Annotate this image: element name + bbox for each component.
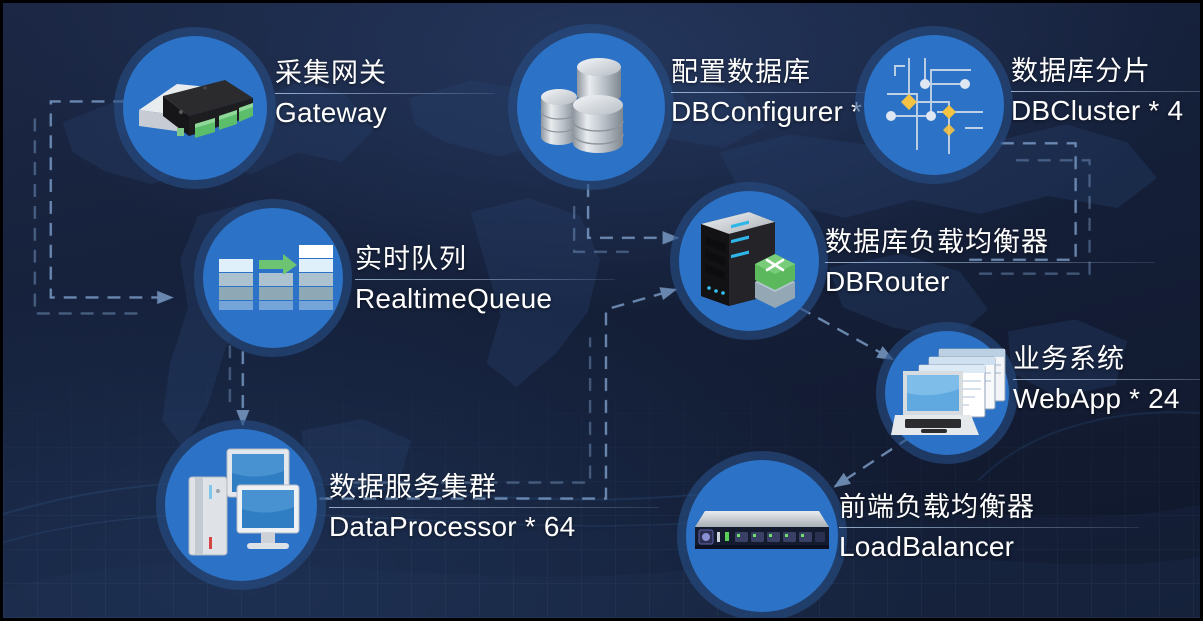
label-divider (275, 93, 495, 94)
node-label-cn: 前端负载均衡器 (839, 493, 1139, 521)
server-router-icon (691, 208, 807, 316)
connector-dbrouter-to-webapp (799, 307, 893, 359)
connector-webapp-to-loadbalancer (835, 437, 911, 487)
node-label: 业务系统 WebApp * 24 (1013, 345, 1203, 415)
label-divider (839, 527, 1139, 528)
node-label: 数据服务集群 DataProcessor * 64 (329, 473, 659, 543)
node-label-en: DataProcessor * 64 (329, 512, 659, 543)
connector-dataprocessor-to-dbrouter (319, 290, 675, 499)
node-label-cn: 数据库分片 (1011, 57, 1203, 85)
node-label-en: Gateway (275, 98, 495, 129)
node-label-cn: 数据服务集群 (329, 473, 659, 501)
circuit-network-icon (879, 50, 989, 160)
connector-dbconfigurer-to-dbrouter (588, 184, 678, 238)
label-divider (329, 507, 659, 508)
node-label: 采集网关 Gateway (275, 59, 495, 129)
label-divider (1011, 91, 1203, 92)
label-divider (1013, 379, 1203, 380)
node-label-cn: 采集网关 (275, 59, 495, 87)
node-label-en: DBCluster * 4 (1011, 96, 1203, 127)
architecture-diagram: 采集网关 Gateway (0, 0, 1203, 621)
node-label-cn: 数据库负载均衡器 (825, 228, 1155, 256)
node-label-en: LoadBalancer (839, 532, 1139, 563)
queue-bars-icon (215, 241, 333, 321)
label-divider (825, 262, 1155, 263)
rack-appliance-icon (691, 501, 833, 561)
node-label: 前端负载均衡器 LoadBalancer (839, 493, 1139, 563)
node-label-cn: 业务系统 (1013, 345, 1203, 373)
laptop-windows-icon (891, 343, 1009, 443)
database-stack-icon (533, 51, 645, 161)
node-label: 数据库负载均衡器 DBRouter (825, 228, 1155, 298)
node-label: 数据库分片 DBCluster * 4 (1011, 57, 1203, 127)
label-divider (355, 279, 615, 280)
node-label-en: RealtimeQueue (355, 284, 615, 315)
node-label-en: WebApp * 24 (1013, 384, 1203, 415)
gateway-device-icon (133, 58, 257, 158)
node-label-en: DBRouter (825, 267, 1155, 298)
node-label-cn: 实时队列 (355, 245, 615, 273)
node-label: 实时队列 RealtimeQueue (355, 245, 615, 315)
pc-monitors-icon (183, 443, 303, 567)
